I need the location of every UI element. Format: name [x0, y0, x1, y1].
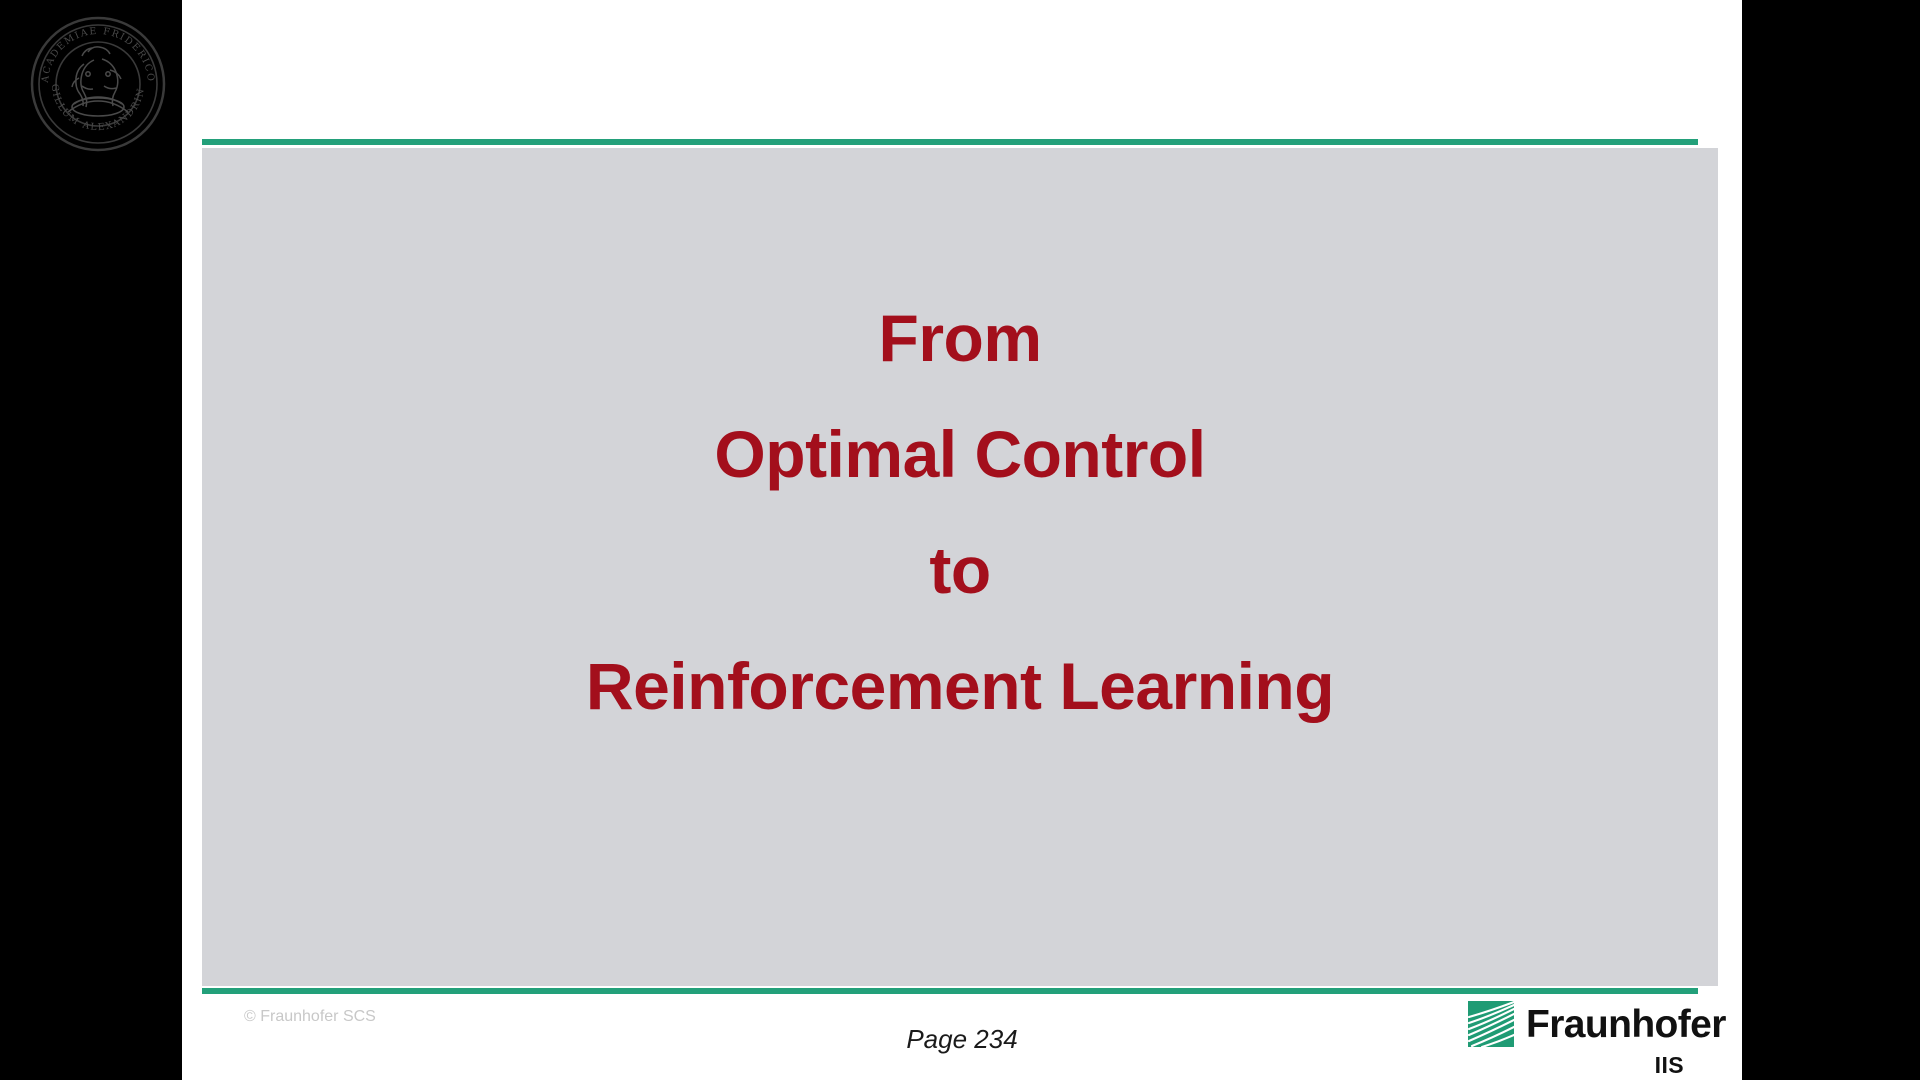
- fraunhofer-wordmark: Fraunhofer: [1526, 1005, 1726, 1044]
- fraunhofer-institute-label: IIS: [1468, 1052, 1690, 1079]
- slide-footer: © Fraunhofer SCS Page 234: [182, 994, 1742, 1080]
- slide-content-panel: From Optimal Control to Reinforcement Le…: [202, 148, 1718, 986]
- accent-rule-top: [202, 139, 1698, 145]
- slide-viewer: ACADEMIAE FRIDERICO SIGILLUM ALEXANDRINA…: [0, 0, 1920, 1080]
- title-line-2: Optimal Control: [202, 396, 1718, 512]
- fraunhofer-logo-row: Fraunhofer: [1468, 998, 1690, 1050]
- slide-title-block: From Optimal Control to Reinforcement Le…: [202, 280, 1718, 744]
- slide-header: [182, 0, 1742, 139]
- university-seal-icon: ACADEMIAE FRIDERICO SIGILLUM ALEXANDRINA…: [22, 8, 174, 160]
- fraunhofer-mark-icon: [1468, 1001, 1514, 1047]
- title-line-4: Reinforcement Learning: [202, 628, 1718, 744]
- title-line-3: to: [202, 512, 1718, 628]
- title-line-1: From: [202, 280, 1718, 396]
- fraunhofer-logo: Fraunhofer IIS: [1468, 998, 1690, 1076]
- presentation-slide: From Optimal Control to Reinforcement Le…: [182, 0, 1742, 1080]
